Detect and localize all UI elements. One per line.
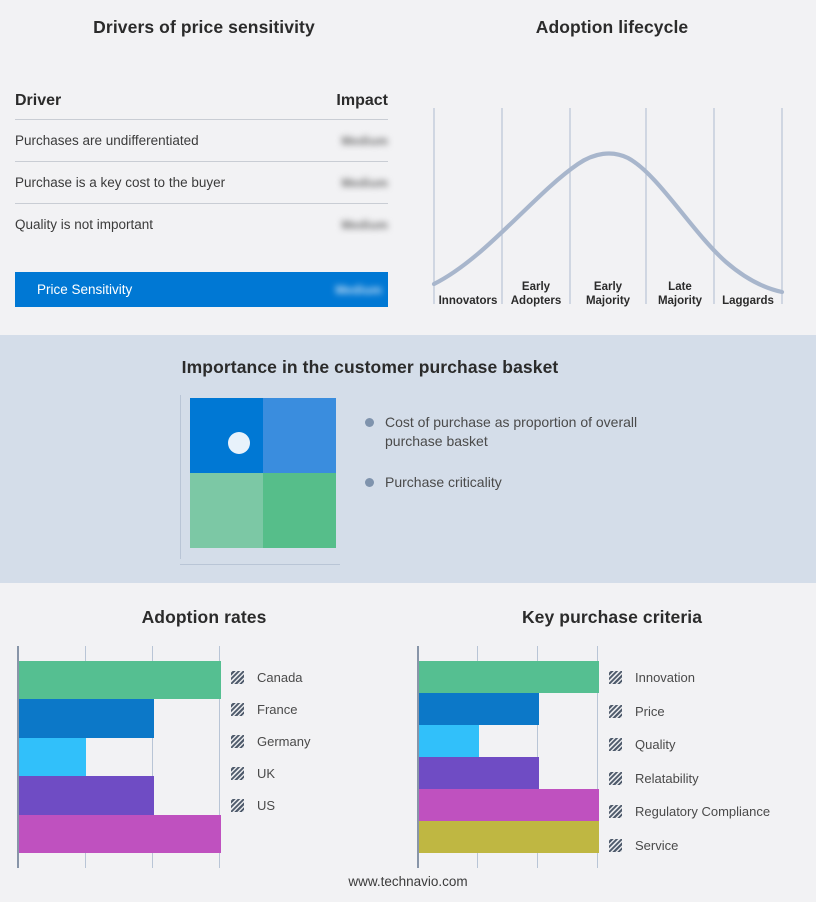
quadrant-bottom-right	[263, 473, 336, 548]
legend-label: France	[257, 702, 297, 717]
bar	[419, 757, 539, 789]
stage-line1: Late	[668, 281, 692, 293]
hatch-swatch-icon	[609, 772, 622, 785]
legend-label: Regulatory Compliance	[635, 804, 770, 819]
adoption-rates-legend: CanadaFranceGermanyUKUS	[231, 661, 310, 821]
bar-row	[19, 815, 221, 853]
matrix-data-point	[228, 432, 250, 454]
bar	[19, 738, 86, 776]
bullet-icon	[365, 418, 374, 427]
bar-row	[19, 776, 221, 814]
lifecycle-stage-labels: Innovators Early Adopters Early Majority…	[426, 82, 804, 310]
adoption-rates-bars	[19, 661, 221, 853]
list-item[interactable]: Quality	[609, 728, 770, 762]
hatch-swatch-icon	[609, 671, 622, 684]
matrix-quadrants	[190, 398, 336, 548]
legend-label: Price	[635, 704, 665, 719]
bullet-icon	[365, 478, 374, 487]
list-item[interactable]: Relatability	[609, 762, 770, 796]
hatch-swatch-icon	[609, 805, 622, 818]
stage-line1: Innovators	[439, 295, 498, 307]
purchase-criteria-bars	[419, 661, 599, 853]
purchase-criteria-chart: InnovationPriceQualityRelatabilityRegula…	[417, 646, 797, 868]
purchase-criteria-panel: Key purchase criteria InnovationPriceQua…	[408, 583, 816, 902]
list-item[interactable]: Germany	[231, 725, 310, 757]
bar-row	[419, 757, 599, 789]
quadrant-bottom-left	[190, 473, 263, 548]
legend-label: Cost of purchase as proportion of overal…	[385, 413, 655, 451]
list-item[interactable]: Canada	[231, 661, 310, 693]
drivers-panel: Drivers of price sensitivity Driver Impa…	[0, 0, 408, 335]
stage-line1: Early	[594, 281, 622, 293]
bar-row	[19, 738, 221, 776]
adoption-rates-panel: Adoption rates CanadaFranceGermanyUKUS	[0, 583, 408, 902]
highlight-impact-value: Medium	[335, 283, 382, 297]
footer-url: www.technavio.com	[0, 874, 816, 889]
legend-label: Purchase criticality	[385, 473, 502, 492]
impact-value: Medium	[341, 218, 388, 232]
adoption-rates-title: Adoption rates	[0, 607, 408, 628]
list-item[interactable]: UK	[231, 757, 310, 789]
purchase-criteria-legend: InnovationPriceQualityRelatabilityRegula…	[609, 661, 770, 862]
bar-row	[419, 821, 599, 853]
bar-row	[419, 693, 599, 725]
list-item: Cost of purchase as proportion of overal…	[365, 413, 785, 451]
bar	[419, 789, 599, 821]
adoption-rates-plot	[17, 646, 221, 868]
bar	[419, 661, 599, 693]
quadrant-top-left	[190, 398, 263, 473]
legend-label: Innovation	[635, 670, 695, 685]
price-sensitivity-highlight-row: Price Sensitivity Medium	[15, 272, 388, 307]
bar	[419, 725, 479, 757]
stage-line2: Majority	[658, 295, 702, 307]
bar	[19, 699, 154, 737]
importance-matrix-chart	[180, 395, 340, 565]
highlight-driver-label: Price Sensitivity	[37, 282, 132, 297]
legend-label: Canada	[257, 670, 303, 685]
table-row: Purchases are undifferentiated Medium	[15, 120, 388, 162]
stage-line1: Laggards	[722, 295, 774, 307]
stage-line2: Majority	[586, 295, 630, 307]
bar-row	[19, 699, 221, 737]
legend-label: Service	[635, 838, 678, 853]
table-row: Purchase is a key cost to the buyer Medi…	[15, 162, 388, 204]
list-item[interactable]: Innovation	[609, 661, 770, 695]
drivers-title: Drivers of price sensitivity	[0, 17, 408, 38]
hatch-swatch-icon	[231, 735, 244, 748]
driver-label: Quality is not important	[15, 217, 153, 232]
adoption-lifecycle-panel: Adoption lifecycle Innovators Early Adop…	[408, 0, 816, 335]
lifecycle-stage-early-majority: Early Majority	[570, 280, 646, 308]
legend-label: UK	[257, 766, 275, 781]
hatch-swatch-icon	[609, 738, 622, 751]
driver-label: Purchases are undifferentiated	[15, 133, 199, 148]
hatch-swatch-icon	[231, 703, 244, 716]
hatch-swatch-icon	[231, 671, 244, 684]
bar	[419, 821, 599, 853]
lifecycle-stage-late-majority: Late Majority	[646, 280, 714, 308]
list-item: Purchase criticality	[365, 473, 785, 492]
bar-row	[419, 725, 599, 757]
purchase-criteria-plot	[417, 646, 599, 868]
hatch-swatch-icon	[231, 799, 244, 812]
quadrant-top-right	[263, 398, 336, 473]
drivers-table: Driver Impact Purchases are undifferenti…	[15, 92, 388, 245]
drivers-table-header: Driver Impact	[15, 92, 388, 120]
bar	[19, 815, 221, 853]
hatch-swatch-icon	[609, 705, 622, 718]
list-item[interactable]: Service	[609, 829, 770, 863]
list-item[interactable]: France	[231, 693, 310, 725]
importance-panel: Importance in the customer purchase bask…	[0, 335, 816, 583]
list-item[interactable]: US	[231, 789, 310, 821]
lifecycle-stage-early-adopters: Early Adopters	[502, 280, 570, 308]
lifecycle-stage-laggards: Laggards	[714, 294, 782, 308]
matrix-x-axis	[180, 564, 340, 565]
bar-row	[419, 789, 599, 821]
importance-title: Importance in the customer purchase bask…	[0, 357, 740, 378]
stage-line2: Adopters	[511, 295, 561, 307]
impact-value: Medium	[341, 134, 388, 148]
column-header-impact: Impact	[336, 92, 388, 110]
adoption-rates-chart: CanadaFranceGermanyUKUS	[17, 646, 389, 868]
bar-row	[19, 661, 221, 699]
hatch-swatch-icon	[609, 839, 622, 852]
matrix-y-axis	[180, 395, 181, 559]
bar	[419, 693, 539, 725]
legend-label: Quality	[635, 737, 675, 752]
lifecycle-stage-innovators: Innovators	[434, 294, 502, 308]
column-header-driver: Driver	[15, 92, 61, 110]
legend-label: Germany	[257, 734, 310, 749]
legend-label: US	[257, 798, 275, 813]
legend-label: Relatability	[635, 771, 699, 786]
bar-row	[419, 661, 599, 693]
driver-label: Purchase is a key cost to the buyer	[15, 175, 225, 190]
list-item[interactable]: Regulatory Compliance	[609, 795, 770, 829]
importance-legend: Cost of purchase as proportion of overal…	[365, 413, 785, 514]
adoption-lifecycle-title: Adoption lifecycle	[408, 17, 816, 38]
purchase-criteria-title: Key purchase criteria	[408, 607, 816, 628]
bar	[19, 661, 221, 699]
adoption-lifecycle-chart: Innovators Early Adopters Early Majority…	[426, 82, 804, 310]
stage-line1: Early	[522, 281, 550, 293]
list-item[interactable]: Price	[609, 695, 770, 729]
bar	[19, 776, 154, 814]
table-row: Quality is not important Medium	[15, 204, 388, 245]
impact-value: Medium	[341, 176, 388, 190]
hatch-swatch-icon	[231, 767, 244, 780]
